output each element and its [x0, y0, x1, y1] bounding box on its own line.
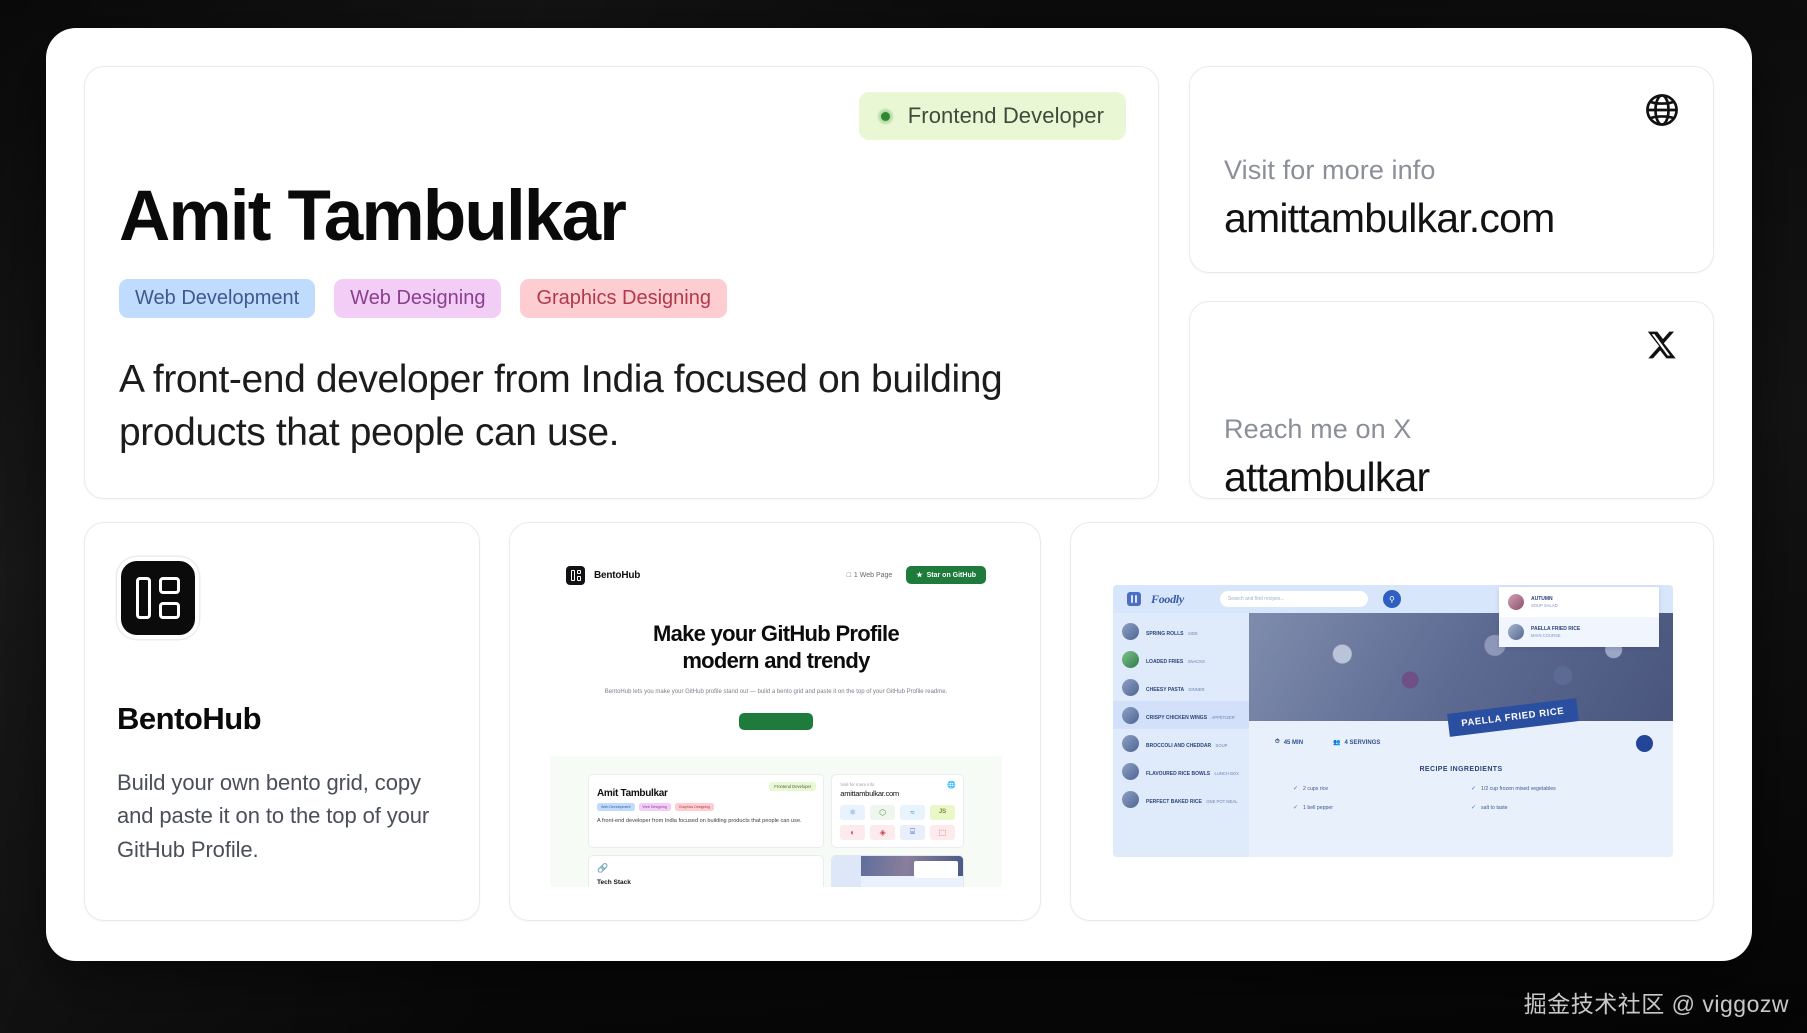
avatar — [1122, 763, 1139, 780]
x-link-card[interactable]: Reach me on X attambulkar — [1189, 301, 1714, 499]
globe-icon — [1641, 89, 1683, 131]
avatar — [1122, 679, 1139, 696]
bentohub-landing-screenshot: BentoHub □ 1 Web Page ★ Star on GitHub — [550, 557, 1002, 887]
link-icon: 🔗 — [597, 863, 608, 873]
shot-a-headline-2: modern and trendy — [682, 648, 869, 673]
suggestions-popover: AUTUMN SOUP SALAD PAELLA FRIED RICE MAIN… — [1499, 587, 1659, 647]
page-icon: □ — [847, 572, 851, 579]
shot-a-get-started-button[interactable] — [739, 713, 813, 730]
website-caption: Visit for more info — [1224, 155, 1679, 186]
avatar — [1122, 623, 1139, 640]
html5-icon: ⬚ — [930, 825, 955, 840]
avatar — [1508, 594, 1524, 610]
avatar — [1122, 651, 1139, 668]
preview-nested-screenshot — [831, 855, 964, 887]
figma-icon: ◐ — [840, 825, 865, 840]
project-card[interactable]: BentoHub Build your own bento grid, copy… — [84, 522, 480, 921]
preview-link-value: amittambulkar.com — [840, 789, 955, 798]
hero-bio: A front-end developer from India focused… — [119, 353, 1039, 459]
preview-profile-cell: Frontend Developer Amit Tambulkar Web De… — [588, 774, 824, 848]
website-url[interactable]: amittambulkar.com — [1224, 195, 1679, 242]
avatar — [1122, 735, 1139, 752]
nodejs-icon: ⬡ — [870, 805, 895, 820]
list-item: ✓1/2 cup frozen mixed vegetables — [1471, 785, 1629, 792]
website-link-card[interactable]: Visit for more info amittambulkar.com — [1189, 66, 1714, 273]
screenshot-card-bentohub[interactable]: BentoHub □ 1 Web Page ★ Star on GitHub — [509, 522, 1041, 921]
list-item: ✓2 cups rice — [1293, 785, 1451, 792]
list-item[interactable]: PAELLA FRIED RICE MAIN COURSE — [1499, 617, 1659, 647]
avatar — [1122, 707, 1139, 724]
skill-tag-row: Web Development Web Designing Graphics D… — [119, 279, 1124, 318]
favorite-fab-button[interactable] — [1636, 735, 1653, 752]
search-placeholder: Search and find recipes... — [1228, 596, 1285, 602]
shot-a-navbar: BentoHub □ 1 Web Page ★ Star on GitHub — [550, 557, 1002, 593]
list-item[interactable]: AUTUMN SOUP SALAD — [1499, 587, 1659, 617]
list-item[interactable]: PERFECT BAKED RICE ONE POT MEAL — [1113, 785, 1249, 813]
watermark: 掘金技术社区 @ viggozw — [1524, 985, 1789, 1019]
search-icon[interactable]: ⚲ — [1383, 590, 1401, 608]
search-input[interactable]: Search and find recipes... — [1220, 591, 1368, 607]
project-title: BentoHub — [117, 701, 447, 737]
preview-link-caption: Visit for more info — [840, 782, 955, 787]
list-item[interactable]: SPRING ROLLS SIDE — [1113, 617, 1249, 645]
recipe-servings: 👥 4 SERVINGS — [1333, 739, 1380, 746]
skill-tag[interactable]: Web Development — [119, 279, 315, 318]
status-dot-icon — [877, 108, 894, 125]
preview-techstack-cell: 🔗 Tech Stack — [588, 855, 824, 887]
check-icon: ✓ — [1471, 785, 1476, 792]
check-icon: ✓ — [1471, 804, 1476, 811]
shot-b-brand: Foodly — [1151, 592, 1184, 607]
skill-tag[interactable]: Graphics Designing — [520, 279, 727, 318]
status-badge: Frontend Developer — [859, 92, 1126, 140]
css3-icon: ⌸ — [900, 825, 925, 840]
preview-tag: Web Development — [597, 803, 635, 811]
avatar — [1508, 624, 1524, 640]
globe-icon: 🌐 — [947, 781, 956, 789]
shot-a-hero: Make your GitHub Profile modern and tren… — [550, 593, 1002, 756]
recipe-photo: AUTUMN SOUP SALAD PAELLA FRIED RICE MAIN… — [1249, 613, 1673, 721]
list-item: ✓salt to taste — [1471, 804, 1629, 811]
bento-grid-logo-icon — [117, 557, 199, 639]
shot-a-headline-1: Make your GitHub Profile — [653, 621, 899, 646]
page-title: Amit Tambulkar — [119, 181, 1124, 252]
recipe-sidebar: SPRING ROLLS SIDE LOADED FRIES SNACKS — [1113, 613, 1249, 857]
x-handle[interactable]: attambulkar — [1224, 454, 1679, 499]
check-icon: ✓ — [1293, 785, 1298, 792]
list-item[interactable]: FLAVOURED RICE BOWLS LUNCH BOX — [1113, 757, 1249, 785]
list-item: ✓1 bell pepper — [1293, 804, 1451, 811]
avatar — [1122, 791, 1139, 808]
shot-a-cta-star[interactable]: ★ Star on GitHub — [906, 566, 986, 584]
shot-b-body: SPRING ROLLS SIDE LOADED FRIES SNACKS — [1113, 613, 1673, 857]
check-icon: ✓ — [1293, 804, 1298, 811]
list-item[interactable]: CRISPY CHICKEN WINGS APPETIZER — [1113, 701, 1249, 729]
list-item[interactable]: LOADED FRIES SNACKS — [1113, 645, 1249, 673]
recipe-app-screenshot: Foodly Search and find recipes... ⚲ ▢ RE… — [1113, 585, 1673, 857]
clock-icon: ⏱ — [1275, 739, 1280, 746]
preview-tech-stack: ⚛ ⬡ ≈ JS ◐ ◈ ⌸ ⬚ — [840, 805, 955, 840]
screenshot-card-recipe-app[interactable]: Foodly Search and find recipes... ⚲ ▢ RE… — [1070, 522, 1714, 921]
foodly-logo-icon — [1127, 592, 1141, 606]
recipe-detail: AUTUMN SOUP SALAD PAELLA FRIED RICE MAIN… — [1249, 613, 1673, 857]
bento-grid: Frontend Developer Amit Tambulkar Web De… — [84, 66, 1714, 961]
shot-a-nav-link[interactable]: □ 1 Web Page — [847, 572, 893, 579]
recipe-time: ⏱ 45 MIN — [1275, 739, 1303, 746]
shot-a-bento-preview: Frontend Developer Amit Tambulkar Web De… — [588, 774, 964, 887]
shot-a-subtext: BentoHub lets you make your GitHub profi… — [590, 688, 962, 697]
preview-status-badge: Frontend Developer — [769, 782, 816, 791]
project-description: Build your own bento grid, copy and past… — [117, 766, 447, 866]
preview-tag: Graphics Designing — [675, 803, 714, 811]
bentohub-logo-icon — [566, 566, 585, 585]
tailwind-icon: ≈ — [900, 805, 925, 820]
status-badge-label: Frontend Developer — [908, 103, 1104, 129]
preview-tag-row: Web Development Web Designing Graphics D… — [597, 803, 815, 811]
react-icon: ⚛ — [840, 805, 865, 820]
preview-link-cell: 🌐 Visit for more info amittambulkar.com … — [831, 774, 964, 848]
x-logo-icon — [1641, 324, 1683, 366]
preview-card-title: Tech Stack — [597, 879, 815, 886]
bento-frame: Frontend Developer Amit Tambulkar Web De… — [46, 28, 1752, 961]
x-caption: Reach me on X — [1224, 414, 1679, 445]
shot-a-brand: BentoHub — [594, 570, 640, 581]
preview-tag: Web Designing — [639, 803, 671, 811]
skill-tag[interactable]: Web Designing — [334, 279, 501, 318]
preview-bio: A front-end developer from India focused… — [597, 817, 815, 825]
ingredients-list: ✓2 cups rice ✓1/2 cup frozen mixed veget… — [1293, 785, 1629, 811]
javascript-icon: JS — [930, 805, 955, 820]
list-item[interactable]: BROCCOLI AND CHEDDAR SOUP — [1113, 729, 1249, 757]
hero-card: Frontend Developer Amit Tambulkar Web De… — [84, 66, 1159, 499]
sketch-icon: ◈ — [870, 825, 895, 840]
list-item[interactable]: CHEESY PASTA DINNER — [1113, 673, 1249, 701]
star-icon: ★ — [916, 571, 922, 579]
ingredients-heading: RECIPE INGREDIENTS — [1249, 766, 1673, 773]
serves-icon: 👥 — [1333, 739, 1340, 746]
